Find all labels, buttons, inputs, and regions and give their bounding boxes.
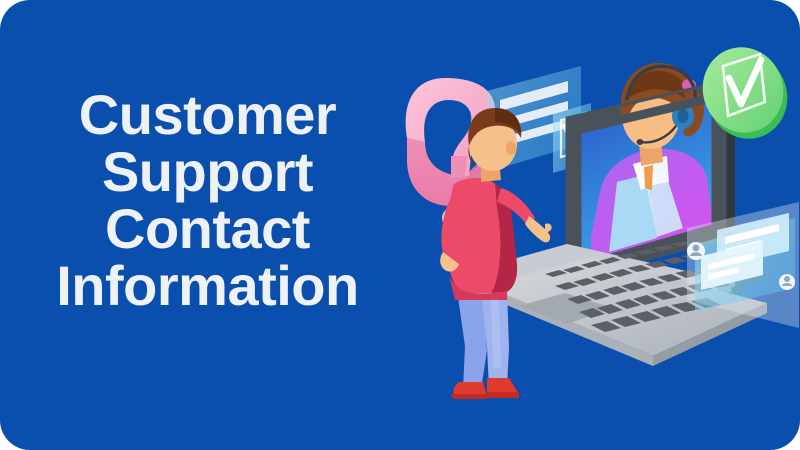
- banner-card: Customer Support Contact Information: [0, 0, 800, 450]
- customer-support-illustration: [395, 38, 800, 423]
- page-title: Customer Support Contact Information: [10, 86, 405, 314]
- banner: Customer Support Contact Information: [0, 0, 800, 450]
